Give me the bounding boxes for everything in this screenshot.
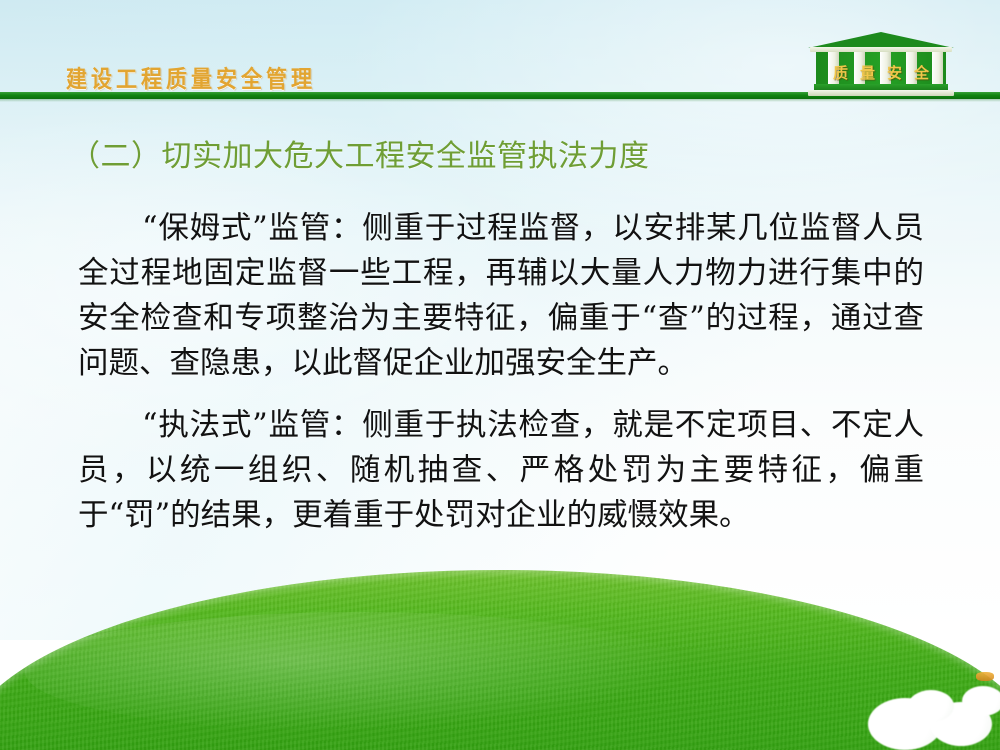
body-paragraph: “保姆式”监管：侧重于过程监督，以安排某几位监督人员全过程地固定监督一些工程，再… [78,206,924,386]
quality-safety-temple-logo: 质量安全 [806,32,956,100]
grass-field-decoration [0,570,1000,750]
grass-highlight [25,612,695,732]
logo-label: 质量安全 [816,62,946,83]
section-title: （二）切实加大危大工程安全监管执法力度 [70,131,650,175]
cloud-shape [962,686,1000,716]
slide-body: “保姆式”监管：侧重于过程监督，以安排某几位监督人员全过程地固定监督一些工程，再… [78,206,924,538]
temple-base [808,90,954,96]
temple-roof-icon [808,32,954,48]
header-title: 建设工程质量安全管理 [66,61,316,95]
cloud-shape [908,690,954,722]
slide-canvas: 建设工程质量安全管理 质量安全 （二）切实加大危大工程安全监管执法力度 “保姆式… [0,0,1000,750]
horizon-accent [976,672,994,681]
body-paragraph: “执法式”监管：侧重于执法检查，就是不定项目、不定人员，以统一组织、随机抽查、严… [78,403,924,538]
